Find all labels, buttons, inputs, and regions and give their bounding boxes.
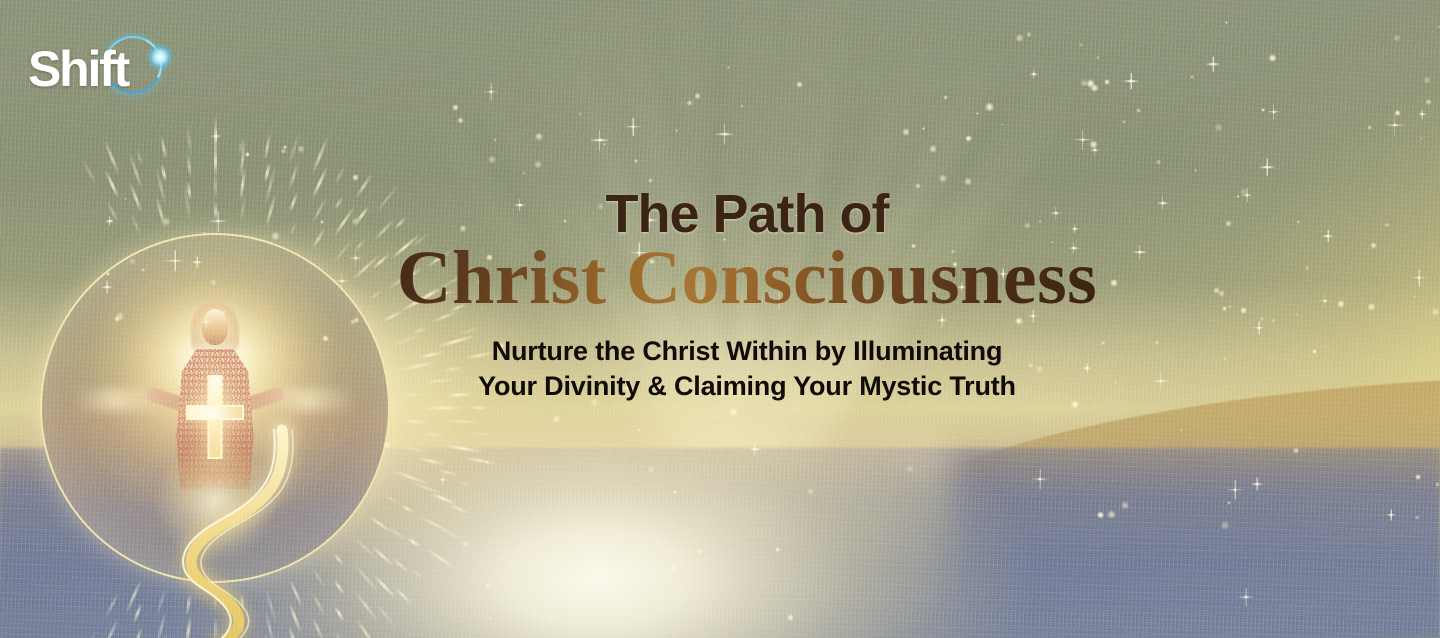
brand-wordmark: Shift: [28, 44, 128, 94]
hero-subtitle: Nurture the Christ Within by Illuminatin…: [352, 334, 1142, 404]
mandala-circle: [40, 233, 390, 583]
figure-body-glow: [150, 437, 280, 567]
shift-logo[interactable]: Shift: [26, 28, 161, 112]
robed-glowing-figure-icon: [140, 287, 290, 523]
page-title: Christ Consciousness: [352, 240, 1142, 318]
spark-glow-icon: [147, 44, 173, 70]
figure-head: [202, 309, 228, 345]
hero-subtitle-line-2: Your Divinity & Claiming Your Mystic Tru…: [352, 369, 1142, 404]
flower-of-life-circle-icon: [40, 233, 390, 583]
cross-horizontal: [186, 405, 244, 420]
hero-eyebrow: The Path of: [352, 186, 1142, 242]
hero-banner: The Path of Christ Consciousness Nurture…: [0, 0, 1440, 638]
hero-subtitle-line-1: Nurture the Christ Within by Illuminatin…: [352, 334, 1142, 369]
hero-copy: The Path of Christ Consciousness Nurture…: [352, 186, 1142, 404]
